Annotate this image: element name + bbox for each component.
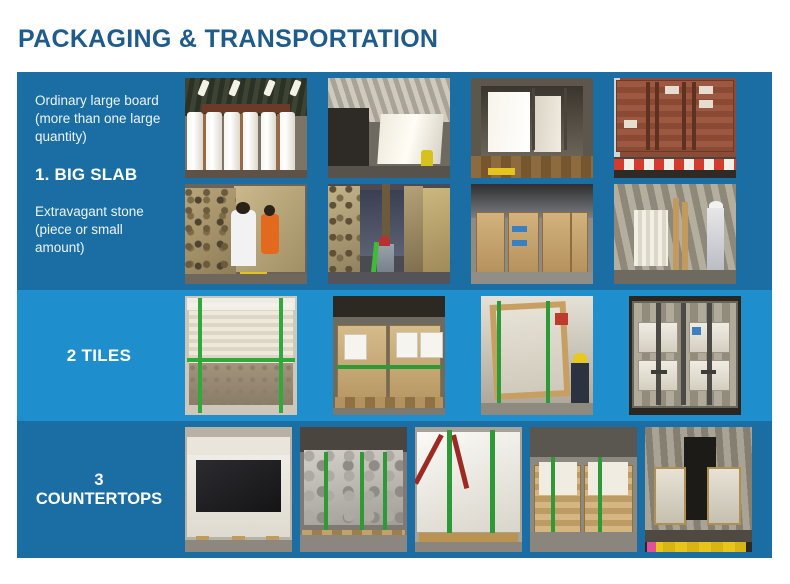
image-strip-big-slab-bottom (185, 184, 762, 284)
slabs-loading-into-truck-image (328, 78, 450, 178)
row-big-slab: Ordinary large board (more than one larg… (17, 72, 772, 290)
label-big-slab: 1. BIG SLAB (35, 165, 169, 185)
page-title: PACKAGING & TRANSPORTATION (18, 25, 438, 54)
row-tiles-labels: 2 TILES (17, 290, 177, 421)
label-tiles: 2 TILES (35, 346, 169, 366)
crates-inside-container-image (645, 427, 752, 552)
red-container-rear-doors-image (614, 78, 736, 178)
row-countertops: 3 COUNTERTOPS (17, 421, 772, 558)
slabs-inside-container-image (471, 78, 593, 178)
white-wrapped-bundle-image (415, 427, 522, 552)
row-tiles-images (177, 290, 772, 421)
label-countertops: 3 COUNTERTOPS (35, 471, 169, 509)
worker-loading-container-image (614, 184, 736, 284)
container-doors-with-crates-image (629, 296, 741, 415)
workers-moving-granite-slab-image (185, 184, 307, 284)
image-strip-tiles (185, 296, 762, 415)
warehouse-white-slab-bundles-image (185, 78, 307, 178)
banded-tile-crate-image (185, 296, 297, 415)
wooden-a-frame-crates-image (471, 184, 593, 284)
black-countertop-in-white-crate-image (185, 427, 292, 552)
grey-countertops-on-pallet-image (300, 427, 407, 552)
crate-being-loaded-image (481, 296, 593, 415)
row-big-slab-images (177, 72, 772, 290)
strapped-wooden-crates-image (530, 427, 637, 552)
row-countertops-images (177, 421, 772, 558)
pallet-crates-with-documents-image (333, 296, 445, 415)
image-strip-countertops (185, 427, 762, 552)
packaging-panel: Ordinary large board (more than one larg… (17, 72, 772, 558)
image-strip-big-slab-top (185, 78, 762, 178)
caption-extravagant-stone: Extravagant stone (piece or small amount… (35, 203, 169, 258)
row-tiles: 2 TILES (17, 290, 772, 421)
row-big-slab-labels: Ordinary large board (more than one larg… (17, 72, 177, 290)
caption-ordinary-large-board: Ordinary large board (more than one larg… (35, 92, 169, 147)
slab-yard-worker-image (328, 184, 450, 284)
row-countertops-labels: 3 COUNTERTOPS (17, 421, 177, 558)
